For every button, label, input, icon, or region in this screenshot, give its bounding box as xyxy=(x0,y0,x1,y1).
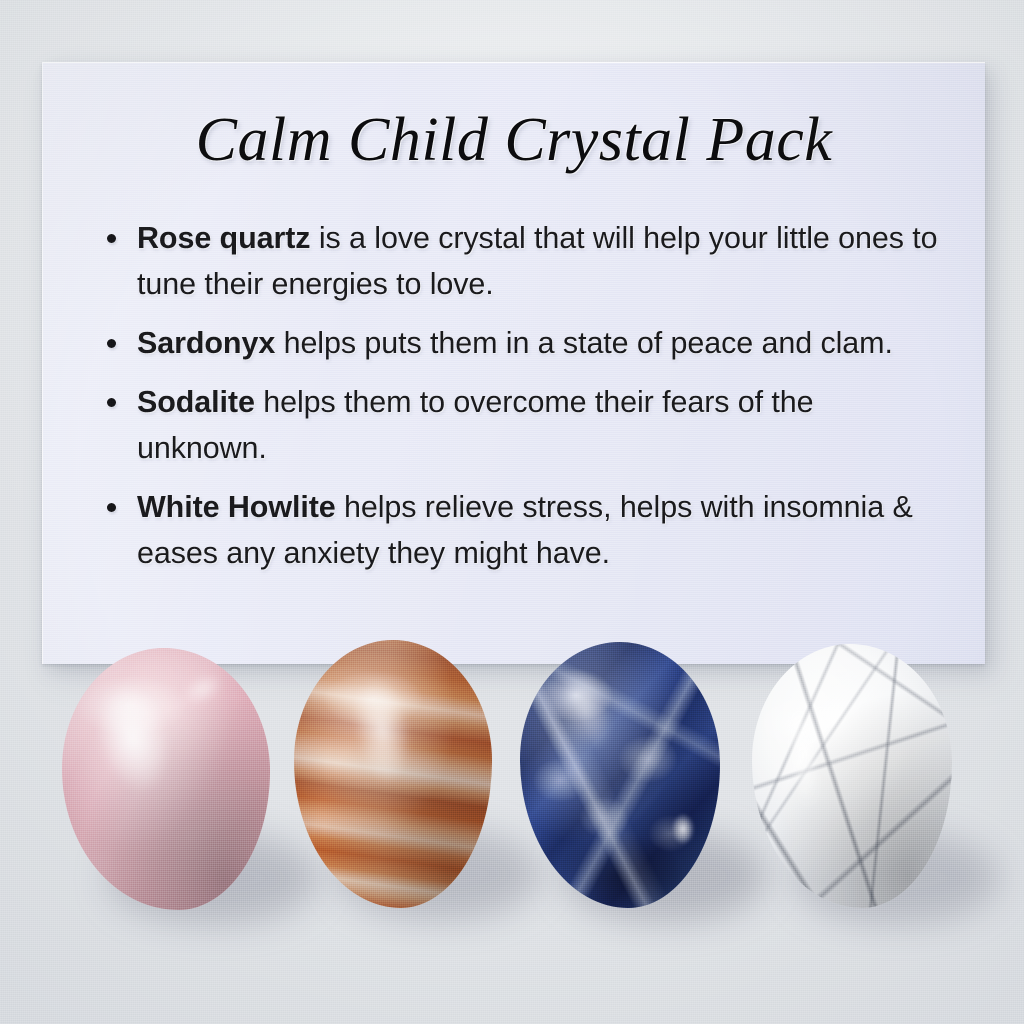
bullet-dot-icon xyxy=(107,234,116,243)
crystal-sodalite-texture xyxy=(520,642,720,908)
crystal-white-howlite-body xyxy=(752,644,952,908)
crystal-sodalite-body xyxy=(520,642,720,908)
crystal-sardonyx-shading xyxy=(294,640,492,908)
crystal-white-howlite xyxy=(752,644,952,908)
bullet-dot-icon xyxy=(107,503,116,512)
crystal-rose-quartz-body xyxy=(62,648,270,910)
crystal-bullet-list: Rose quartz is a love crystal that will … xyxy=(95,215,951,589)
crystal-sardonyx xyxy=(294,640,492,908)
info-card-content: Calm Child Crystal Pack Rose quartz is a… xyxy=(43,63,985,664)
info-card: Calm Child Crystal Pack Rose quartz is a… xyxy=(42,62,985,664)
bullet-dot-icon xyxy=(107,398,116,407)
page-title: Calm Child Crystal Pack xyxy=(43,105,985,176)
photo-scene: Calm Child Crystal Pack Rose quartz is a… xyxy=(0,0,1024,1024)
crystal-sardonyx-body xyxy=(294,640,492,908)
crystal-white-howlite-texture xyxy=(752,644,952,908)
bullet-dot-icon xyxy=(107,339,116,348)
crystal-name-white-howlite: White Howlite xyxy=(137,490,336,524)
crystal-name-rose-quartz: Rose quartz xyxy=(137,221,310,255)
crystal-rose-quartz-shading xyxy=(62,648,270,910)
crystal-description-sardonyx: helps puts them in a state of peace and … xyxy=(275,326,893,360)
crystal-name-sardonyx: Sardonyx xyxy=(137,326,275,360)
crystal-sodalite-shading xyxy=(520,642,720,908)
crystal-white-howlite-shading xyxy=(752,644,952,908)
crystal-name-sodalite: Sodalite xyxy=(137,385,255,419)
crystal-sodalite xyxy=(520,642,720,908)
crystal-sardonyx-texture xyxy=(294,640,492,908)
crystal-rose-quartz xyxy=(62,648,270,910)
list-item-sodalite: Sodalite helps them to overcome their fe… xyxy=(95,379,951,471)
list-item-sardonyx: Sardonyx helps puts them in a state of p… xyxy=(95,320,951,366)
list-item-white-howlite: White Howlite helps relieve stress, help… xyxy=(95,484,951,576)
crystal-rose-quartz-texture xyxy=(62,648,270,910)
list-item-rose-quartz: Rose quartz is a love crystal that will … xyxy=(95,215,951,307)
